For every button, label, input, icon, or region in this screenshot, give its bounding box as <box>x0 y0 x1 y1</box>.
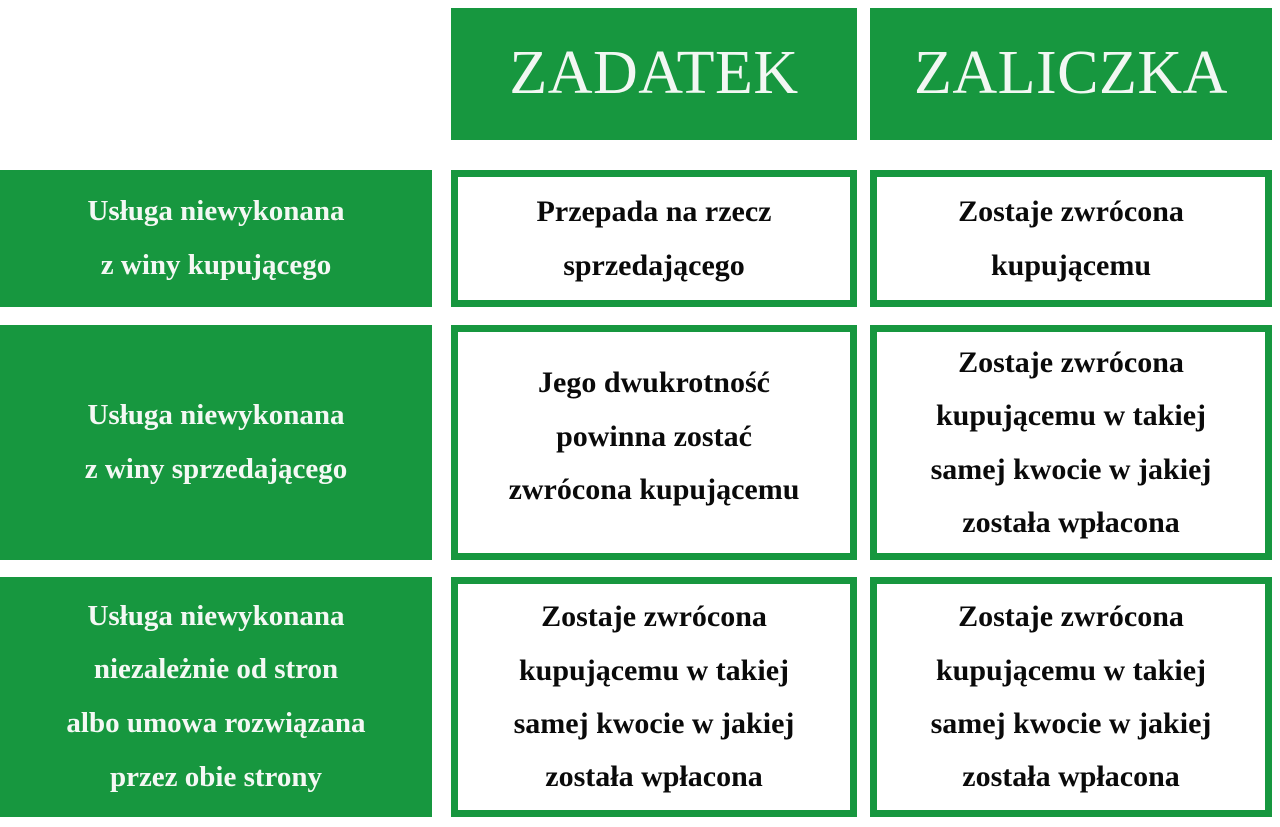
row-1-zaliczka-text: Zostaje zwróconakupującemu <box>946 185 1196 292</box>
row-1-criteria-text: Usługa niewykonanaz winy kupującego <box>73 185 358 292</box>
row-2-zaliczka-text: Zostaje zwróconakupującemu w takiejsamej… <box>919 336 1224 550</box>
table-row-2-zaliczka-cell: Zostaje zwróconakupującemu w takiejsamej… <box>870 325 1272 560</box>
table-row-1-zadatek-cell: Przepada na rzeczsprzedającego <box>451 170 857 307</box>
table-row-2-zadatek-cell: Jego dwukrotnośćpowinna zostaćzwrócona k… <box>451 325 857 560</box>
header-cell-blank <box>0 8 432 140</box>
table-row-3-zadatek-cell: Zostaje zwróconakupującemu w takiejsamej… <box>451 577 857 817</box>
row-3-zaliczka-text: Zostaje zwróconakupującemu w takiejsamej… <box>919 590 1224 804</box>
row-2-zadatek-text: Jego dwukrotnośćpowinna zostaćzwrócona k… <box>497 356 812 516</box>
comparison-table: ZADATEK ZALICZKA Usługa niewykonanaz win… <box>0 0 1280 827</box>
row-2-criteria-text: Usługa niewykonanaz winy sprzedającego <box>71 389 362 496</box>
table-row-1-zaliczka-cell: Zostaje zwróconakupującemu <box>870 170 1272 307</box>
table-row-2-criteria-cell: Usługa niewykonanaz winy sprzedającego <box>0 325 432 560</box>
table-row-3-zaliczka-cell: Zostaje zwróconakupującemu w takiejsamej… <box>870 577 1272 817</box>
header-zaliczka-label: ZALICZKA <box>914 41 1228 106</box>
header-zadatek-label: ZADATEK <box>509 41 798 106</box>
header-cell-zaliczka: ZALICZKA <box>870 8 1272 140</box>
row-3-criteria-text: Usługa niewykonananiezależnie od stronal… <box>52 590 379 805</box>
row-1-zadatek-text: Przepada na rzeczsprzedającego <box>525 185 784 292</box>
table-row-3-criteria-cell: Usługa niewykonananiezależnie od stronal… <box>0 577 432 817</box>
table-row-1-criteria-cell: Usługa niewykonanaz winy kupującego <box>0 170 432 307</box>
header-cell-zadatek: ZADATEK <box>451 8 857 140</box>
row-3-zadatek-text: Zostaje zwróconakupującemu w takiejsamej… <box>502 590 807 804</box>
